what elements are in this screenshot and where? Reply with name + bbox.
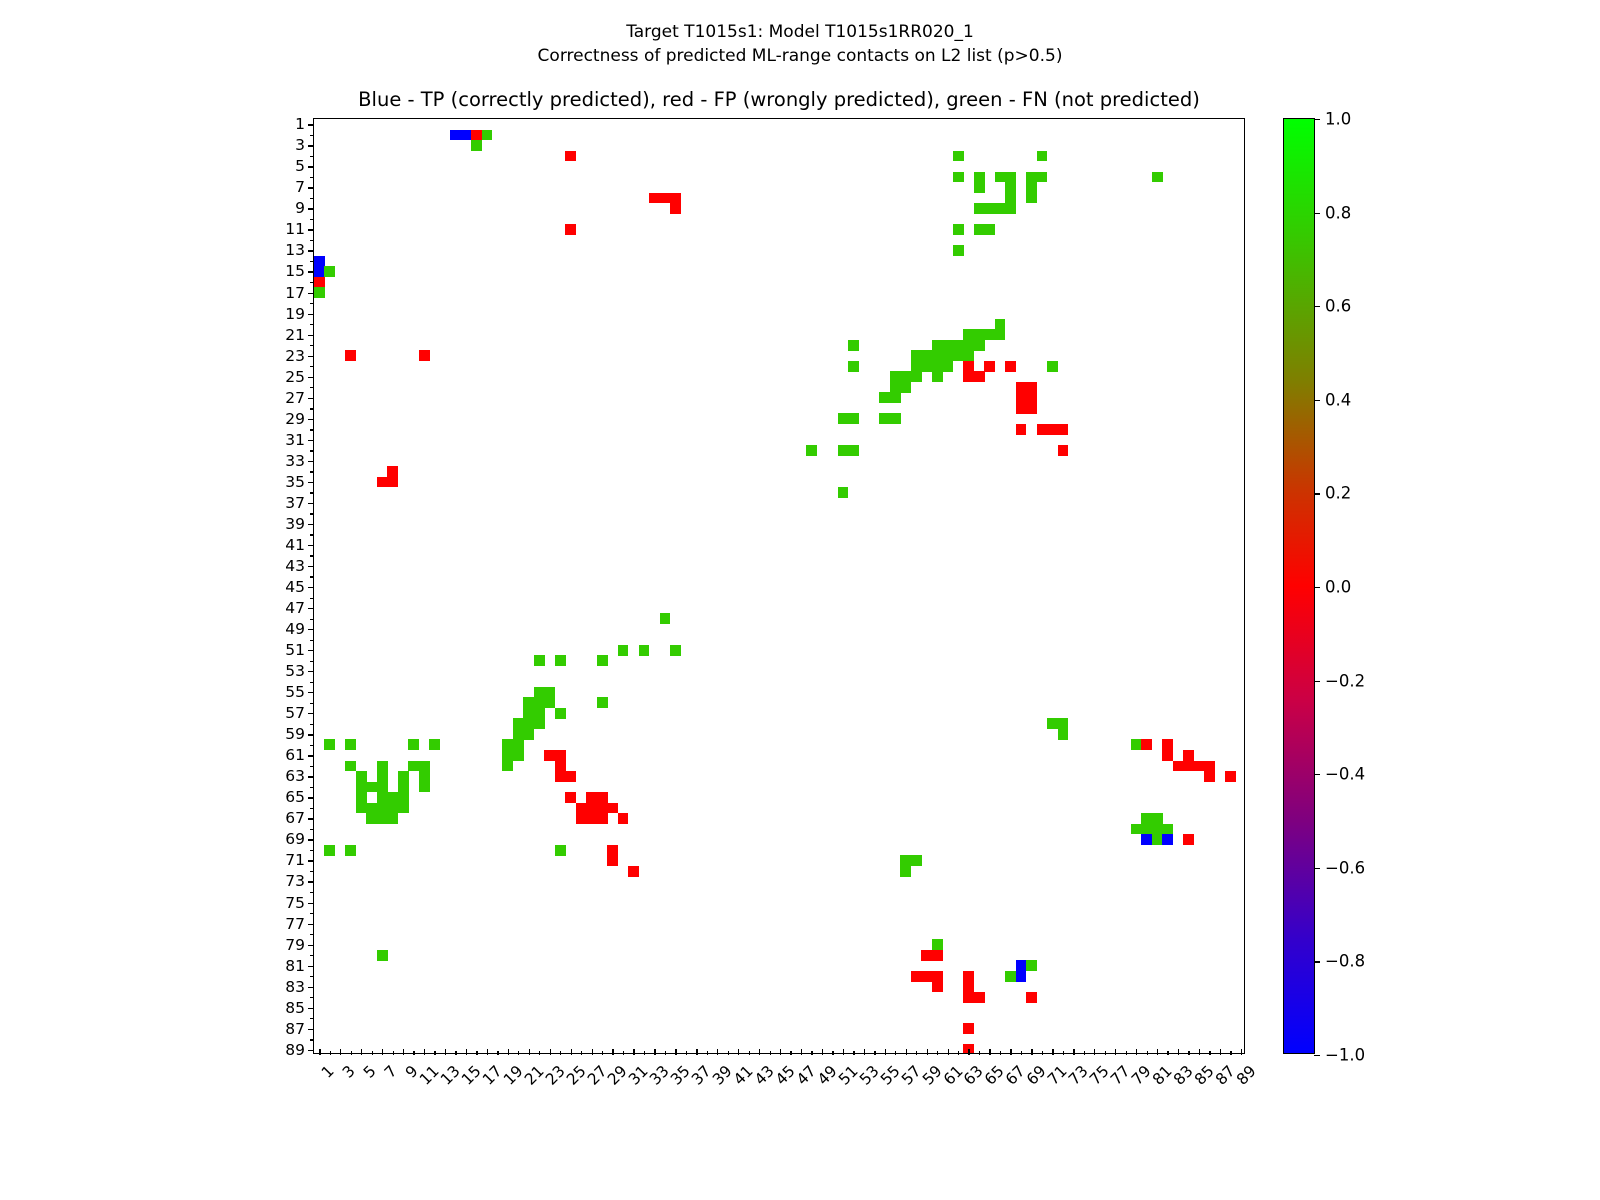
y-axis-tick-label: 25	[285, 368, 305, 386]
y-axis-tick-minor	[310, 135, 314, 136]
contact-cell-fp	[1058, 445, 1069, 456]
y-axis-tick-minor	[310, 156, 314, 157]
contact-cell-fp	[565, 151, 576, 162]
contact-cell-fn	[1131, 824, 1142, 835]
contact-cell-fn	[408, 739, 419, 750]
contact-cell-fn	[974, 224, 985, 235]
y-axis-tick-label: 51	[285, 641, 305, 659]
contact-cell-fn	[544, 687, 555, 698]
contact-cell-fp	[565, 224, 576, 235]
x-axis-tick-major	[1178, 1049, 1179, 1055]
colorbar-tick	[1314, 493, 1320, 494]
x-axis-tick-minor	[916, 1051, 917, 1055]
y-axis-tick-major	[308, 924, 314, 925]
y-axis-tick-label: 79	[285, 936, 305, 954]
x-axis-tick-label: 5	[360, 1062, 380, 1082]
y-axis-tick-major	[308, 692, 314, 693]
y-axis-tick-label: 77	[285, 915, 305, 933]
x-axis-tick-minor	[1042, 1051, 1043, 1055]
y-axis-tick-minor	[310, 640, 314, 641]
contact-cell-fp	[1183, 750, 1194, 761]
y-axis-tick-label: 13	[285, 241, 305, 259]
y-axis-tick-label: 49	[285, 620, 305, 638]
y-axis-tick-minor	[310, 177, 314, 178]
y-axis-tick-label: 41	[285, 536, 305, 554]
contact-cell-fn	[921, 361, 932, 372]
contact-cell-fn	[963, 340, 974, 351]
y-axis-tick-minor	[310, 703, 314, 704]
contact-cell-fn	[984, 203, 995, 214]
x-axis-tick-minor	[1126, 1051, 1127, 1055]
contact-cell-fn	[366, 803, 377, 814]
contact-cell-fp	[932, 971, 943, 982]
contact-cell-fn	[366, 782, 377, 793]
colorbar-tick-label: −0.6	[1325, 858, 1365, 877]
contact-cell-fn	[995, 172, 1006, 183]
y-axis-tick-label: 67	[285, 809, 305, 827]
contact-cell-fn	[534, 655, 545, 666]
y-axis-tick-label: 61	[285, 746, 305, 764]
y-axis-tick-label: 85	[285, 999, 305, 1017]
x-axis-tick-major	[403, 1049, 404, 1055]
contact-cell-fn	[806, 445, 817, 456]
contact-cell-fn	[1005, 971, 1016, 982]
contact-cell-fp	[921, 971, 932, 982]
x-axis-tick-major	[1136, 1049, 1137, 1055]
contact-cells-layer	[314, 119, 1244, 1053]
contact-cell-fn	[974, 203, 985, 214]
contact-cell-fp	[586, 813, 597, 824]
y-axis-tick-major	[308, 145, 314, 146]
x-axis-tick-minor	[623, 1051, 624, 1055]
contact-cell-fn	[523, 697, 534, 708]
contact-cell-fn	[890, 392, 901, 403]
contact-cell-fp	[974, 992, 985, 1003]
x-axis-tick-major	[906, 1049, 907, 1055]
contact-cell-fn	[900, 382, 911, 393]
contact-cell-fn	[838, 413, 849, 424]
contact-cell-fp	[618, 813, 629, 824]
x-axis-tick-major	[843, 1049, 844, 1055]
x-axis-tick-minor	[749, 1051, 750, 1055]
x-axis-tick-minor	[1000, 1051, 1001, 1055]
contact-cell-fn	[921, 350, 932, 361]
colorbar-tick	[1314, 868, 1320, 869]
contact-cell-fn	[890, 413, 901, 424]
contact-cell-fp	[387, 466, 398, 477]
contact-cell-fp	[565, 771, 576, 782]
contact-cell-fn	[324, 845, 335, 856]
contact-cell-fp	[544, 750, 555, 761]
contact-cell-fn	[555, 655, 566, 666]
contact-cell-fn	[523, 718, 534, 729]
y-axis-tick-major	[308, 440, 314, 441]
y-axis-tick-major	[308, 503, 314, 504]
contact-cell-fp	[963, 981, 974, 992]
contact-cell-fn	[1005, 172, 1016, 183]
x-axis-tick-minor	[832, 1051, 833, 1055]
contact-cell-fn	[534, 687, 545, 698]
y-axis-tick-minor	[310, 282, 314, 283]
y-axis-tick-minor	[310, 240, 314, 241]
colorbar-tick	[1314, 1055, 1320, 1056]
x-axis-tick-label: 3	[339, 1062, 359, 1082]
y-axis-tick-major	[308, 524, 314, 525]
x-axis-tick-minor	[937, 1051, 938, 1055]
x-axis-tick-minor	[602, 1051, 603, 1055]
x-axis-tick-major	[633, 1049, 634, 1055]
x-axis-tick-label: 89	[1233, 1062, 1260, 1089]
colorbar-tick	[1314, 587, 1320, 588]
x-axis-tick-minor	[1063, 1051, 1064, 1055]
y-axis-tick-minor	[310, 534, 314, 535]
y-axis-tick-major	[308, 1008, 314, 1009]
y-axis-tick-minor	[310, 555, 314, 556]
contact-cell-fn	[995, 329, 1006, 340]
x-axis-tick-minor	[455, 1051, 456, 1055]
x-axis-tick-minor	[1209, 1051, 1210, 1055]
y-axis-tick-minor	[310, 892, 314, 893]
colorbar-tick-label: −0.4	[1325, 765, 1365, 784]
contact-cell-fp	[984, 361, 995, 372]
contact-cell-fn	[942, 350, 953, 361]
y-axis-tick-label: 37	[285, 494, 305, 512]
contact-cell-fn	[502, 761, 513, 772]
colorbar-tick-label: 0.8	[1325, 203, 1351, 222]
contact-cell-fp	[974, 371, 985, 382]
colorbar-tick-label: −0.2	[1325, 671, 1365, 690]
y-axis-tick-label: 3	[295, 136, 305, 154]
y-axis-tick-major	[308, 755, 314, 756]
y-axis-tick-label: 17	[285, 284, 305, 302]
x-axis-tick-major	[445, 1049, 446, 1055]
x-axis-tick-major	[696, 1049, 697, 1055]
y-axis-tick-major	[308, 629, 314, 630]
contact-cell-fn	[1141, 813, 1152, 824]
y-axis-tick-minor	[310, 576, 314, 577]
contact-cell-fp	[607, 845, 618, 856]
contact-cell-fp	[963, 361, 974, 372]
contact-cell-fn	[942, 361, 953, 372]
contact-cell-tp	[1016, 960, 1027, 971]
x-axis-tick-minor	[1167, 1051, 1168, 1055]
y-axis-tick-major	[308, 545, 314, 546]
contact-cell-fp	[1026, 992, 1037, 1003]
x-axis-tick-minor	[644, 1051, 645, 1055]
y-axis-tick-major	[308, 187, 314, 188]
y-axis-tick-minor	[310, 976, 314, 977]
contact-cell-fp	[576, 813, 587, 824]
contact-cell-fn	[1131, 739, 1142, 750]
y-axis-tick-minor	[310, 913, 314, 914]
contact-cell-fp	[586, 792, 597, 803]
x-axis-tick-minor	[330, 1051, 331, 1055]
contact-cell-fn	[900, 371, 911, 382]
y-axis-tick-label: 19	[285, 305, 305, 323]
y-axis-tick-label: 5	[295, 157, 305, 175]
contact-cell-fp	[419, 350, 430, 361]
contact-cell-tp	[450, 130, 461, 141]
contact-cell-fn	[523, 708, 534, 719]
y-axis-tick-minor	[310, 850, 314, 851]
y-axis-tick-minor	[310, 366, 314, 367]
y-axis-tick-label: 47	[285, 599, 305, 617]
y-axis-tick-label: 63	[285, 767, 305, 785]
contact-cell-fn	[932, 939, 943, 950]
contact-cell-fn	[911, 855, 922, 866]
y-axis-tick-label: 83	[285, 978, 305, 996]
contact-cell-fn	[324, 739, 335, 750]
y-axis-tick-major	[308, 461, 314, 462]
x-axis-tick-major	[927, 1049, 928, 1055]
x-axis-tick-minor	[1230, 1051, 1231, 1055]
contact-cell-fn	[911, 371, 922, 382]
y-axis-tick-minor	[310, 261, 314, 262]
y-axis-tick-label: 81	[285, 957, 305, 975]
contact-cell-fp	[565, 792, 576, 803]
x-axis-tick-minor	[476, 1051, 477, 1055]
contact-cell-fn	[398, 782, 409, 793]
contact-cell-fn	[398, 771, 409, 782]
contact-cell-fn	[366, 813, 377, 824]
x-axis-tick-major	[1073, 1049, 1074, 1055]
contact-cell-fp	[1016, 392, 1027, 403]
contact-cell-fn	[345, 761, 356, 772]
colorbar-tick-label: 0.4	[1325, 390, 1351, 409]
contact-cell-fn	[848, 413, 859, 424]
axes-title-legend: Blue - TP (correctly predicted), red - F…	[313, 88, 1245, 111]
contact-cell-fn	[953, 151, 964, 162]
contact-cell-fn	[513, 729, 524, 740]
contact-cell-fn	[377, 782, 388, 793]
contact-cell-fn	[1026, 960, 1037, 971]
contact-cell-fn	[387, 792, 398, 803]
x-axis-tick-label: 1	[318, 1062, 338, 1082]
contact-cell-fn	[911, 350, 922, 361]
x-axis-tick-major	[592, 1049, 593, 1055]
x-axis-tick-major	[1199, 1049, 1200, 1055]
colorbar-tick-label: −1.0	[1325, 1046, 1365, 1065]
y-axis-tick-minor	[310, 324, 314, 325]
x-axis-tick-minor	[874, 1051, 875, 1055]
x-axis-tick-major	[1220, 1049, 1221, 1055]
y-axis-tick-label: 71	[285, 851, 305, 869]
contact-cell-fn	[377, 771, 388, 782]
contact-cell-fp	[555, 750, 566, 761]
contact-cell-fp	[597, 792, 608, 803]
contact-cell-fp	[911, 971, 922, 982]
contact-cell-fp	[607, 803, 618, 814]
x-axis-tick-major	[968, 1049, 969, 1055]
contact-cell-fn	[984, 329, 995, 340]
contact-cell-fn	[932, 350, 943, 361]
contact-cell-fp	[471, 130, 482, 141]
colorbar-tick-label: 0.0	[1325, 578, 1351, 597]
contact-cell-fn	[387, 813, 398, 824]
contact-cell-fn	[974, 182, 985, 193]
x-axis-tick-major	[529, 1049, 530, 1055]
contact-cell-fn	[942, 340, 953, 351]
contact-cell-fn	[534, 697, 545, 708]
y-axis-tick-label: 87	[285, 1020, 305, 1038]
y-axis-tick-major	[308, 1050, 314, 1051]
contact-cell-fn	[555, 708, 566, 719]
x-axis-tick-major	[1010, 1049, 1011, 1055]
colorbar-tick	[1314, 681, 1320, 682]
contact-cell-tp	[1162, 834, 1173, 845]
y-axis-tick-label: 57	[285, 704, 305, 722]
contact-cell-fp	[670, 193, 681, 204]
x-axis-tick-minor	[497, 1051, 498, 1055]
y-axis-tick-label: 53	[285, 662, 305, 680]
contact-cell-fp	[1058, 424, 1069, 435]
x-axis-tick-minor	[958, 1051, 959, 1055]
y-axis-tick-minor	[310, 871, 314, 872]
y-axis-tick-minor	[310, 808, 314, 809]
colorbar-tick	[1314, 961, 1320, 962]
x-axis-tick-minor	[1147, 1051, 1148, 1055]
colorbar-tick-label: 0.2	[1325, 484, 1351, 503]
contact-cell-fn	[995, 319, 1006, 330]
y-axis-tick-label: 65	[285, 788, 305, 806]
y-axis-tick-minor	[310, 408, 314, 409]
y-axis-tick-major	[308, 903, 314, 904]
contact-cell-fn	[419, 782, 430, 793]
contact-map-plot: 1357911131517192123252729313335373941434…	[313, 118, 1245, 1054]
x-axis-tick-major	[759, 1049, 760, 1055]
contact-cell-fp	[576, 803, 587, 814]
y-axis-tick-label: 39	[285, 515, 305, 533]
x-axis-tick-major	[550, 1049, 551, 1055]
contact-cell-fp	[1162, 739, 1173, 750]
y-axis-tick-minor	[310, 787, 314, 788]
contact-cell-fn	[932, 361, 943, 372]
y-axis-tick-minor	[310, 745, 314, 746]
y-axis-tick-minor	[310, 219, 314, 220]
contact-cell-fp	[932, 950, 943, 961]
y-axis-tick-major	[308, 1029, 314, 1030]
y-axis-tick-minor	[310, 471, 314, 472]
contact-cell-fn	[974, 340, 985, 351]
contact-cell-fp	[1026, 392, 1037, 403]
x-axis-tick-major	[361, 1049, 362, 1055]
x-axis-tick-major	[1241, 1049, 1242, 1055]
contact-cell-fn	[953, 245, 964, 256]
contact-cell-fn	[1162, 824, 1173, 835]
contact-cell-fp	[377, 477, 388, 488]
y-axis-tick-major	[308, 208, 314, 209]
x-axis-tick-major	[424, 1049, 425, 1055]
y-axis-tick-minor	[310, 682, 314, 683]
contact-cell-fn	[670, 645, 681, 656]
x-axis-tick-minor	[1105, 1051, 1106, 1055]
contact-cell-fn	[513, 750, 524, 761]
x-axis-tick-major	[948, 1049, 949, 1055]
contact-cell-fn	[356, 803, 367, 814]
y-axis-tick-minor	[310, 303, 314, 304]
x-axis-tick-minor	[790, 1051, 791, 1055]
y-axis-tick-label: 9	[295, 199, 305, 217]
y-axis-tick-major	[308, 166, 314, 167]
y-axis-tick-minor	[310, 934, 314, 935]
y-axis-tick-major	[308, 229, 314, 230]
y-axis-tick-minor	[310, 345, 314, 346]
contact-cell-fn	[387, 803, 398, 814]
colorbar: 1.00.80.60.40.20.0−0.2−0.4−0.6−0.8−1.0	[1283, 118, 1315, 1054]
y-axis-tick-major	[308, 482, 314, 483]
y-axis-tick-major	[308, 671, 314, 672]
contact-cell-fp	[1047, 424, 1058, 435]
contact-cell-fn	[1026, 193, 1037, 204]
y-axis-tick-label: 75	[285, 894, 305, 912]
contact-cell-fn	[660, 613, 671, 624]
contact-cell-fn	[953, 340, 964, 351]
contact-cell-fp	[1225, 771, 1236, 782]
y-axis-tick-minor	[310, 450, 314, 451]
y-axis-tick-label: 21	[285, 326, 305, 344]
suptitle-line-1: Target T1015s1: Model T1015s1RR020_1	[626, 22, 974, 42]
y-axis-tick-label: 45	[285, 578, 305, 596]
contact-cell-fp	[1141, 739, 1152, 750]
x-axis-tick-minor	[393, 1051, 394, 1055]
contact-cell-fn	[974, 172, 985, 183]
y-axis-tick-major	[308, 398, 314, 399]
contact-cell-fn	[429, 739, 440, 750]
y-axis-tick-major	[308, 377, 314, 378]
contact-cell-fn	[984, 224, 995, 235]
y-axis-tick-label: 69	[285, 830, 305, 848]
y-axis-tick-minor	[310, 492, 314, 493]
contact-cell-fn	[502, 750, 513, 761]
x-axis-tick-minor	[372, 1051, 373, 1055]
contact-cell-fp	[1183, 761, 1194, 772]
contact-cell-fp	[649, 193, 660, 204]
x-axis-tick-minor	[413, 1051, 414, 1055]
contact-cell-fn	[398, 803, 409, 814]
x-axis-tick-major	[989, 1049, 990, 1055]
x-axis-tick-major	[508, 1049, 509, 1055]
contact-cell-fn	[471, 140, 482, 151]
x-axis-tick-major	[717, 1049, 718, 1055]
contact-cell-fp	[963, 971, 974, 982]
y-axis-tick-major	[308, 987, 314, 988]
y-axis-tick-label: 11	[285, 220, 305, 238]
y-axis-tick-major	[308, 314, 314, 315]
contact-cell-fn	[1005, 193, 1016, 204]
x-axis-tick-minor	[665, 1051, 666, 1055]
contact-cell-fn	[345, 739, 356, 750]
x-axis-tick-major	[487, 1049, 488, 1055]
x-axis-tick-major	[340, 1049, 341, 1055]
x-axis-tick-major	[466, 1049, 467, 1055]
contact-cell-tp	[1141, 834, 1152, 845]
y-axis-tick-major	[308, 713, 314, 714]
contact-cell-fn	[1152, 834, 1163, 845]
y-axis-tick-label: 7	[295, 178, 305, 196]
colorbar-tick	[1314, 213, 1320, 214]
contact-cell-fn	[513, 739, 524, 750]
y-axis-tick-minor	[310, 598, 314, 599]
contact-cell-fn	[419, 771, 430, 782]
contact-cell-fn	[408, 761, 419, 772]
y-axis-tick-minor	[310, 955, 314, 956]
contact-cell-fn	[953, 350, 964, 361]
contact-cell-fp	[921, 950, 932, 961]
contact-cell-fn	[555, 845, 566, 856]
x-axis-tick-minor	[770, 1051, 771, 1055]
contact-cell-fn	[1058, 729, 1069, 740]
contact-cell-fp	[1026, 382, 1037, 393]
